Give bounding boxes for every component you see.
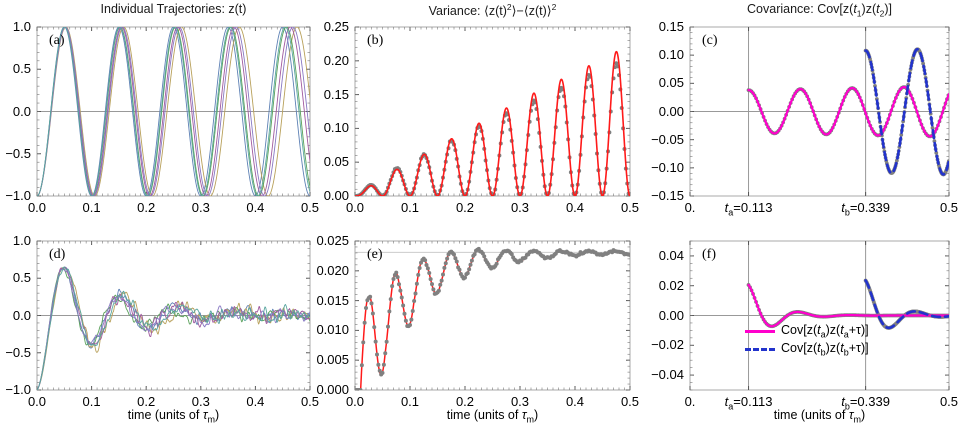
panel-f-simulation-points-a xyxy=(751,292,755,296)
panel-f-simulation-points-b xyxy=(873,304,877,308)
panel-f-simulation-points-b xyxy=(938,315,942,319)
panel-f-simulation-points-b xyxy=(932,314,936,318)
legend-entry-1: Cov[z(tb)z(tb+τ)] xyxy=(745,340,869,358)
panel-f-simulation-points-a xyxy=(823,315,827,319)
panel-f-simulation-points-a xyxy=(914,314,918,318)
panel-f-simulation-points-b xyxy=(931,314,935,318)
panel-f-simulation-points-a xyxy=(807,312,811,316)
panel-f-simulation-points-b xyxy=(944,315,948,319)
panel-f-simulation-points-b xyxy=(941,315,945,319)
panel-f-simulation-points-b xyxy=(904,313,908,317)
panel-f-simulation-points-b xyxy=(894,322,898,326)
panel-f-simulation-points-b xyxy=(897,319,901,323)
panel-f-simulation-points-a xyxy=(920,314,924,318)
panel-f-simulation-points-a xyxy=(924,314,928,318)
panel-f-simulation-points-a xyxy=(816,314,820,318)
panel-f-simulation-points-a xyxy=(938,314,942,318)
panel-f-simulation-points-b xyxy=(943,315,947,319)
panel-f-simulation-points-a xyxy=(820,315,824,319)
panel-f-simulation-points-b xyxy=(934,315,938,319)
panel-f-plot xyxy=(0,0,959,432)
panel-f-simulation-points-b xyxy=(937,315,941,319)
panel-f-simulation-points-b xyxy=(899,317,903,321)
panel-f-simulation-points-a xyxy=(900,314,904,318)
panel-f-simulation-points-a xyxy=(781,317,785,321)
panel-f-simulation-points-b xyxy=(872,300,876,304)
panel-f-simulation-points-a xyxy=(784,315,788,319)
panel-f-simulation-points-a xyxy=(944,314,948,318)
panel-f-simulation-points-a xyxy=(933,314,937,318)
panel-f-simulation-points-b xyxy=(919,310,923,314)
panel-f-simulation-points-a xyxy=(828,314,832,318)
panel-f-simulation-points-a xyxy=(832,314,836,318)
panel-f-simulation-points-a xyxy=(936,314,940,318)
panel-f-simulation-points-b xyxy=(879,319,883,323)
panel-f-simulation-points-a xyxy=(945,314,949,318)
panel-f-simulation-points-b xyxy=(896,320,900,324)
panel-f-simulation-points-b xyxy=(947,314,951,318)
panel-f-simulation-points-b xyxy=(929,314,933,318)
panel-f-simulation-points-a xyxy=(822,315,826,319)
panel-f-cov-ta-curve xyxy=(749,285,949,326)
panel-f-ylabel-0: −0.04 xyxy=(651,367,684,382)
panel-f-simulation-points-a xyxy=(864,314,868,318)
panel-f-simulation-points-b xyxy=(913,309,917,313)
panel-f-simulation-points-b xyxy=(943,315,947,319)
panel-f-simulation-points-b xyxy=(939,315,943,319)
panel-f-simulation-points-b xyxy=(867,287,871,291)
panel-f-simulation-points-b xyxy=(914,310,918,314)
panel-f-simulation-points-a xyxy=(801,311,805,315)
panel-f-simulation-points-b xyxy=(908,310,912,314)
panel-f: −0.04−0.020.000.020.040.ta=0.113tb=0.339… xyxy=(0,0,959,432)
panel-f-simulation-points-b xyxy=(921,311,925,315)
panel-f-simulation-points-b xyxy=(915,310,919,314)
xaxis-title-col-2: time (units of τm) xyxy=(373,408,613,425)
panel-f-simulation-points-a xyxy=(753,296,757,300)
panel-f-simulation-points-a xyxy=(861,314,865,318)
panel-f-simulation-points-b xyxy=(902,314,906,318)
panel-f-xlabel-3: 0.5 xyxy=(909,394,959,409)
panel-f-simulation-points-b xyxy=(923,312,927,316)
panel-f-simulation-points-a xyxy=(798,310,802,314)
panel-f-simulation-points-b xyxy=(893,323,897,327)
panel-f-ylabel-2: 0.00 xyxy=(659,308,684,323)
panel-f-simulation-points-b xyxy=(902,314,906,318)
panel-f-simulation-points-b xyxy=(866,282,870,286)
panel-f-simulation-points-b xyxy=(903,313,907,317)
panel-f-simulation-points-b xyxy=(929,314,933,318)
panel-f-simulation-points-b xyxy=(946,314,950,318)
panel-f-simulation-points-a xyxy=(941,314,945,318)
panel-f-simulation-points-b xyxy=(940,315,944,319)
panel-f-simulation-points-a xyxy=(831,314,835,318)
panel-f-simulation-points-a xyxy=(786,313,790,317)
panel-f-simulation-points-a xyxy=(789,312,793,316)
panel-f-simulation-points-b xyxy=(878,317,882,321)
panel-f-simulation-points-b xyxy=(895,321,899,325)
panel-f-simulation-points-a xyxy=(840,313,844,317)
panel-f-simulation-points-b xyxy=(877,316,881,320)
panel-f-simulation-points-b xyxy=(916,310,920,314)
panel-f-simulation-points-a xyxy=(883,314,887,318)
panel-f-simulation-points-a xyxy=(888,314,892,318)
panel-f-simulation-points-a xyxy=(783,316,787,320)
panel-f-simulation-points-a xyxy=(847,313,851,317)
panel-f-simulation-points-a xyxy=(867,314,871,318)
panel-f-simulation-points-a xyxy=(873,314,877,318)
panel-f-simulation-points-a xyxy=(859,313,863,317)
panel-f-simulation-points-a xyxy=(795,310,799,314)
panel-f-simulation-points-b xyxy=(864,279,868,283)
panel-f-simulation-points-b xyxy=(901,315,905,319)
panel-f-simulation-points-b xyxy=(928,313,932,317)
panel-f-simulation-points-b xyxy=(936,315,940,319)
legend-swatch-0 xyxy=(745,330,775,333)
panel-f-simulation-points-b xyxy=(881,321,885,325)
panel-f-simulation-points-b xyxy=(891,325,895,329)
panel-f-simulation-points-b xyxy=(933,314,937,318)
legend-label-1: Cov[z(tb)z(tb+τ)] xyxy=(781,341,869,358)
panel-f-simulation-points-a xyxy=(898,314,902,318)
panel-f-simulation-points-b xyxy=(916,310,920,314)
panel-f-simulation-points-a xyxy=(813,314,817,318)
panel-f-simulation-points-a xyxy=(886,314,890,318)
panel-f-simulation-points-b xyxy=(890,325,894,329)
panel-f-simulation-points-a xyxy=(939,314,943,318)
panel-f-simulation-points-a xyxy=(927,314,931,318)
panel-f-simulation-points-b xyxy=(871,296,875,300)
panel-f-simulation-points-b xyxy=(884,325,888,329)
panel-f-simulation-points-a xyxy=(841,313,845,317)
panel-f-simulation-points-b xyxy=(919,311,923,315)
xaxis-title-col-3: time (units of τm) xyxy=(700,408,940,425)
panel-f-simulation-points-a xyxy=(930,314,934,318)
panel-f-simulation-points-a xyxy=(757,308,761,312)
panel-f-simulation-points-a xyxy=(917,314,921,318)
panel-f-simulation-points-a xyxy=(892,314,896,318)
panel-f-simulation-points-a xyxy=(849,313,853,317)
panel-f-simulation-points-b xyxy=(866,284,870,288)
panel-f-simulation-points-a xyxy=(792,311,796,315)
panel-f-simulation-points-b xyxy=(865,281,869,285)
panel-f-simulation-points-a xyxy=(829,314,833,318)
panel-f-simulation-points-a xyxy=(844,313,848,317)
xaxis-title-col-1: time (units of τm) xyxy=(54,408,294,425)
panel-f-simulation-points-a xyxy=(895,314,899,318)
panel-f-simulation-points-b xyxy=(904,312,908,316)
panel-f-simulation-points-b xyxy=(864,280,868,284)
legend-entry-0: Cov[z(ta)z(ta+τ)] xyxy=(745,322,869,340)
panel-f-simulation-points-a xyxy=(929,314,933,318)
panel-f-simulation-points-a xyxy=(885,314,889,318)
panel-f-simulation-points-a xyxy=(858,313,862,317)
panel-f-simulation-points-b xyxy=(871,298,875,302)
panel-f-simulation-points-a xyxy=(852,313,856,317)
panel-f-simulation-points-b xyxy=(912,310,916,314)
panel-f-simulation-points-a xyxy=(796,310,800,314)
panel-f-simulation-points-a xyxy=(805,312,809,316)
panel-f-simulation-points-b xyxy=(942,315,946,319)
panel-f-simulation-points-a xyxy=(918,314,922,318)
panel-f-simulation-points-b xyxy=(923,312,927,316)
panel-f-ylabel-3: 0.02 xyxy=(659,278,684,293)
panel-f-simulation-points-b xyxy=(917,310,921,314)
panel-f-simulation-points-a xyxy=(793,310,797,314)
panel-f-simulation-points-b xyxy=(927,313,931,317)
panel-f-simulation-points-a xyxy=(909,314,913,318)
panel-f-simulation-points-b xyxy=(939,315,943,319)
panel-f-simulation-points-b xyxy=(881,322,885,326)
panel-f-simulation-points-a xyxy=(874,314,878,318)
panel-f-simulation-points-b xyxy=(906,311,910,315)
panel-f-simulation-points-a xyxy=(747,283,751,287)
panel-f-simulation-points-a xyxy=(835,314,839,318)
panel-f-simulation-points-a xyxy=(921,314,925,318)
panel-f-simulation-points-a xyxy=(908,314,912,318)
panel-f-simulation-points-a xyxy=(932,314,936,318)
panel-f-simulation-points-b xyxy=(922,311,926,315)
panel-f-simulation-points-b xyxy=(941,315,945,319)
panel-f-simulation-points-b xyxy=(867,285,871,289)
panel-f-simulation-points-b xyxy=(874,306,878,310)
panel-f-simulation-points-a xyxy=(870,314,874,318)
panel-f-simulation-points-a xyxy=(810,313,814,317)
panel-f-simulation-points-b xyxy=(879,318,883,322)
panel-f-simulation-points-b xyxy=(925,313,929,317)
panel-f-simulation-points-b xyxy=(869,292,873,296)
panel-f-simulation-points-a xyxy=(808,313,812,317)
panel-f-simulation-points-a xyxy=(947,314,951,318)
panel-f-simulation-points-a xyxy=(850,313,854,317)
panel-f-simulation-points-a xyxy=(871,314,875,318)
panel-f-simulation-points-a xyxy=(855,313,859,317)
panel-f-simulation-points-b xyxy=(911,310,915,314)
panel-f-simulation-points-b xyxy=(880,320,884,324)
panel-f-simulation-points-a xyxy=(834,314,838,318)
figure-canvas: Individual Trajectories: z(t)−1.0−0.50.0… xyxy=(0,0,959,432)
panel-f-simulation-points-b xyxy=(920,311,924,315)
panel-f-simulation-points-b xyxy=(926,313,930,317)
panel-f-simulation-points-a xyxy=(877,314,881,318)
panel-f-simulation-points-b xyxy=(889,325,893,329)
panel-f-simulation-points-b xyxy=(884,325,888,329)
panel-f-simulation-points-b xyxy=(933,315,937,319)
panel-f-simulation-points-a xyxy=(750,288,754,292)
panel-f-simulation-points-b xyxy=(946,315,950,319)
panel-f-simulation-points-a xyxy=(901,314,905,318)
panel-f-simulation-points-b xyxy=(945,315,949,319)
panel-f-simulation-points-a xyxy=(911,314,915,318)
panel-f-simulation-points-b xyxy=(910,310,914,314)
panel-f-simulation-points-b xyxy=(874,307,878,311)
panel-f-simulation-points-b xyxy=(883,324,887,328)
panel-f-simulation-points-b xyxy=(887,326,891,330)
panel-f-simulation-points-a xyxy=(754,300,758,304)
panel-f-simulation-points-b xyxy=(877,314,881,318)
panel-f-simulation-points-a xyxy=(942,314,946,318)
panel-f-simulation-points-a xyxy=(935,314,939,318)
panel-f-simulation-points-b xyxy=(909,310,913,314)
panel-f-simulation-points-a xyxy=(876,314,880,318)
panel-f-simulation-points-b xyxy=(891,324,895,328)
panel-f-simulation-points-b xyxy=(934,315,938,319)
panel-f-simulation-points-b xyxy=(930,314,934,318)
panel-f-simulation-points-a xyxy=(756,304,760,308)
panel-f-simulation-points-a xyxy=(825,315,829,319)
panel-f-letter: (f) xyxy=(702,247,716,263)
panel-f-simulation-points-b xyxy=(921,311,925,315)
panel-f-simulation-points-b xyxy=(900,316,904,320)
legend-label-0: Cov[z(ta)z(ta+τ)] xyxy=(781,323,869,340)
panel-f-simulation-points-b xyxy=(868,289,872,293)
panel-f-simulation-points-b xyxy=(907,311,911,315)
panel-f-simulation-points-b xyxy=(885,326,889,330)
panel-f-simulation-points-a xyxy=(804,311,808,315)
panel-f-simulation-points-b xyxy=(906,311,910,315)
panel-f-simulation-points-a xyxy=(814,314,818,318)
panel-f-simulation-points-a xyxy=(915,314,919,318)
panel-f-simulation-points-a xyxy=(787,312,791,316)
panel-f-simulation-points-b xyxy=(886,326,890,330)
panel-f-simulation-points-a xyxy=(897,314,901,318)
panel-f-simulation-points-b xyxy=(912,309,916,313)
panel-f-simulation-points-b xyxy=(872,302,876,306)
panel-f-simulation-points-b xyxy=(896,320,900,324)
panel-f-simulation-points-a xyxy=(862,314,866,318)
panel-f-simulation-points-a xyxy=(905,314,909,318)
panel-f-simulation-points-a xyxy=(846,313,850,317)
panel-f-legend: Cov[z(ta)z(ta+τ)]Cov[z(tb)z(tb+τ)] xyxy=(745,322,869,358)
panel-f-simulation-points-a xyxy=(868,314,872,318)
panel-f-simulation-points-a xyxy=(889,314,893,318)
panel-f-simulation-points-b xyxy=(909,310,913,314)
panel-f-simulation-points-b xyxy=(918,310,922,314)
panel-f-simulation-points-b xyxy=(936,315,940,319)
panel-f-simulation-points-a xyxy=(843,313,847,317)
panel-f-simulation-points-b xyxy=(931,314,935,318)
panel-f-simulation-points-b xyxy=(924,312,928,316)
panel-f-simulation-points-b xyxy=(924,312,928,316)
panel-f-simulation-points-b xyxy=(911,310,915,314)
legend-swatch-1 xyxy=(745,348,775,351)
panel-f-simulation-points-b xyxy=(882,323,886,327)
panel-f-simulation-points-a xyxy=(865,314,869,318)
panel-f-simulation-points-b xyxy=(889,326,893,330)
panel-f-simulation-points-a xyxy=(759,312,763,316)
panel-f-simulation-points-a xyxy=(790,311,794,315)
panel-f-simulation-points-a xyxy=(762,318,766,322)
panel-f-frame xyxy=(690,241,949,390)
panel-f-simulation-points-b xyxy=(882,324,886,328)
panel-f-simulation-points-a xyxy=(891,314,895,318)
panel-f-cov-tb-curve xyxy=(866,280,949,327)
panel-f-simulation-points-b xyxy=(894,322,898,326)
panel-f-simulation-points-b xyxy=(928,314,932,318)
panel-f-ylabel-4: 0.04 xyxy=(659,248,684,263)
panel-f-simulation-points-a xyxy=(811,314,815,318)
panel-f-simulation-points-b xyxy=(907,311,911,315)
panel-f-simulation-points-b xyxy=(897,318,901,322)
panel-f-simulation-points-a xyxy=(894,314,898,318)
panel-f-simulation-points-b xyxy=(898,318,902,322)
panel-f-simulation-points-b xyxy=(917,310,921,314)
panel-f-simulation-points-b xyxy=(901,315,905,319)
panel-f-simulation-points-a xyxy=(912,314,916,318)
panel-f-simulation-points-a xyxy=(906,314,910,318)
panel-f-simulation-points-a xyxy=(882,314,886,318)
panel-f-simulation-points-a xyxy=(760,315,764,319)
panel-f-ylabel-1: −0.02 xyxy=(651,337,684,352)
panel-f-simulation-points-b xyxy=(926,313,930,317)
panel-f-simulation-points-b xyxy=(905,312,909,316)
panel-f-simulation-points-a xyxy=(826,315,830,319)
panel-f-simulation-points-b xyxy=(875,309,879,313)
panel-f-simulation-points-b xyxy=(892,323,896,327)
panel-f-simulation-points-a xyxy=(903,314,907,318)
panel-f-simulation-points-b xyxy=(935,315,939,319)
panel-f-simulation-points-b xyxy=(914,310,918,314)
panel-f-simulation-points-a xyxy=(799,310,803,314)
panel-f-simulation-points-b xyxy=(876,313,880,317)
panel-f-simulation-points-b xyxy=(888,326,892,330)
panel-f-simulation-points-b xyxy=(869,290,873,294)
panel-f-simulation-points-b xyxy=(944,315,948,319)
panel-f-simulation-points-a xyxy=(880,314,884,318)
panel-f-simulation-points-a xyxy=(748,285,752,289)
panel-f-simulation-points-a xyxy=(926,314,930,318)
panel-f-simulation-points-a xyxy=(817,315,821,319)
panel-f-simulation-points-a xyxy=(802,311,806,315)
panel-f-simulation-points-b xyxy=(887,326,891,330)
panel-f-simulation-points-b xyxy=(870,294,874,298)
panel-f-simulation-points-a xyxy=(837,314,841,318)
panel-f-simulation-points-a xyxy=(856,313,860,317)
panel-f-simulation-points-b xyxy=(899,317,903,321)
panel-f-simulation-points-a xyxy=(838,314,842,318)
panel-f-simulation-points-a xyxy=(819,315,823,319)
panel-f-simulation-points-b xyxy=(886,326,890,330)
panel-f-simulation-points-a xyxy=(923,314,927,318)
panel-f-simulation-points-b xyxy=(938,315,942,319)
panel-f-simulation-points-b xyxy=(876,311,880,315)
panel-f-simulation-points-a xyxy=(853,313,857,317)
panel-f-simulation-points-b xyxy=(892,324,896,328)
panel-f-simulation-points-a xyxy=(879,314,883,318)
